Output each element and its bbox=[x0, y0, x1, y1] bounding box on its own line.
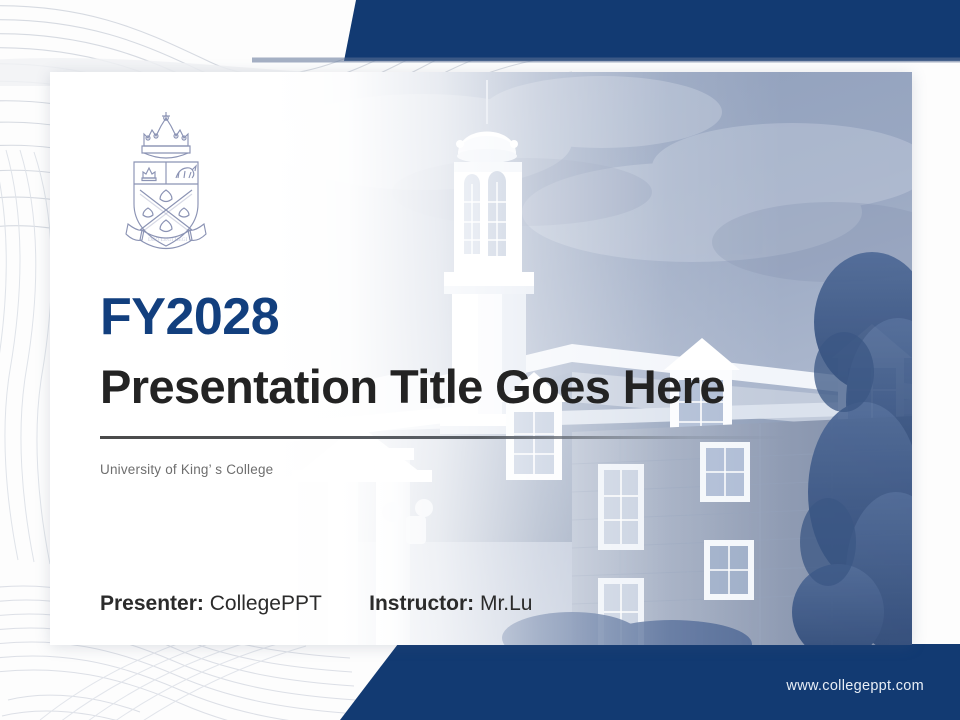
instructor-label: Instructor: bbox=[369, 592, 474, 615]
title-divider-rule bbox=[100, 436, 786, 439]
footer-url[interactable]: www.collegeppt.com bbox=[786, 678, 924, 694]
fiscal-year-label: FY2028 bbox=[100, 290, 725, 345]
presentation-slide: www.collegeppt.com bbox=[0, 0, 960, 720]
page-title: Presentation Title Goes Here bbox=[100, 359, 725, 414]
institution-subtitle: University of King’ s College bbox=[100, 462, 273, 477]
byline: Presenter: CollegePPT Instructor: Mr.Lu bbox=[100, 592, 532, 616]
presenter-label: Presenter: bbox=[100, 592, 204, 615]
university-crest-icon: DEO LEGI REGI bbox=[118, 108, 214, 256]
instructor-name: Mr.Lu bbox=[480, 592, 533, 615]
svg-text:DEO LEGI REGI: DEO LEGI REGI bbox=[148, 237, 188, 243]
presenter-name: CollegePPT bbox=[210, 592, 322, 615]
title-text-block: FY2028 Presentation Title Goes Here bbox=[100, 290, 725, 414]
top-navy-band bbox=[0, 0, 960, 74]
